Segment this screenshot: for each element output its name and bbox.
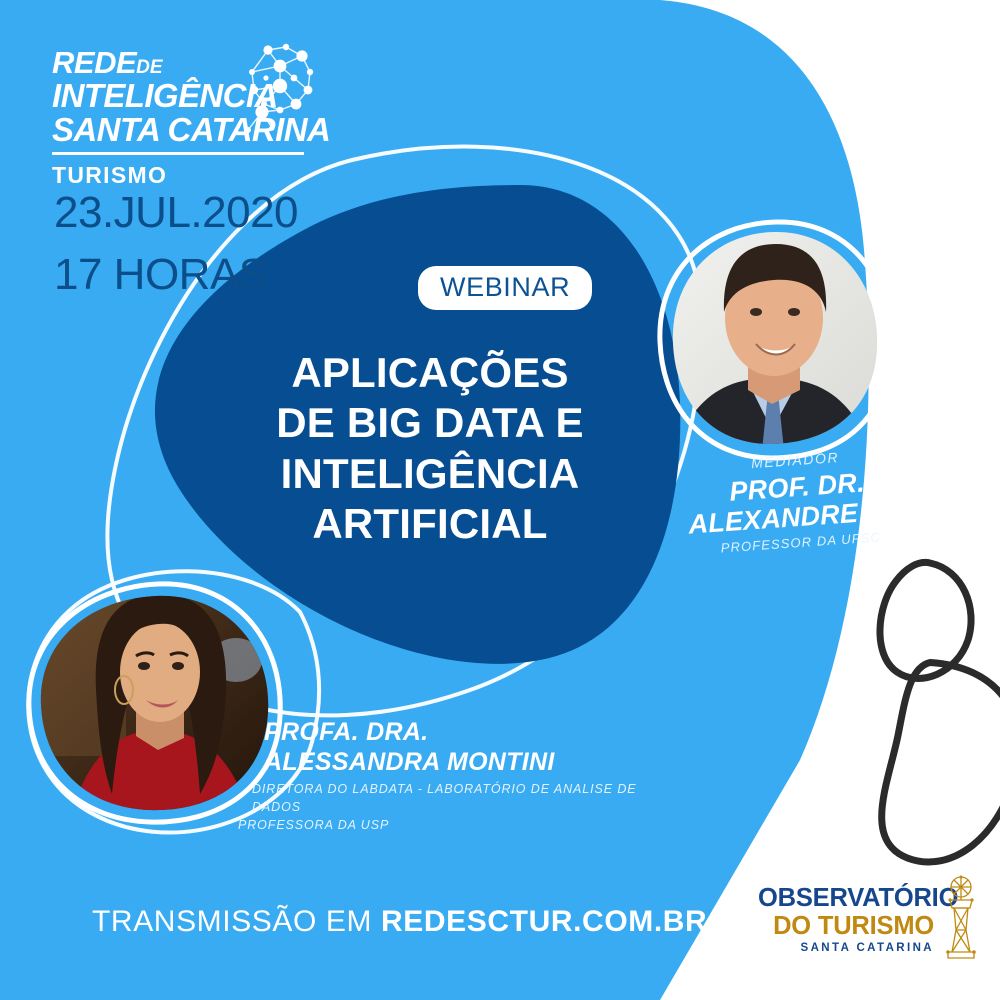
event-time: 17 HORAS xyxy=(54,252,298,298)
event-title-line-2: DE BIG DATA E xyxy=(200,398,660,448)
transmission-prefix: TRANSMISSÃO EM xyxy=(92,905,381,938)
observatorio-line-2: DO TURISMO xyxy=(758,914,934,940)
tower-lattice-icon xyxy=(938,874,984,964)
event-title-line-4: ARTIFICIAL xyxy=(200,499,660,549)
event-title-line-3: INTELIGÊNCIA xyxy=(200,449,660,499)
brand-de: DE xyxy=(136,57,162,78)
speaker-name: PROFA. DRA. ALESSANDRA MONTINI xyxy=(238,718,658,777)
event-title-line-1: APLICAÇÕES xyxy=(200,348,660,398)
network-nodes-icon xyxy=(228,42,320,138)
event-date: 23.JUL.2020 xyxy=(54,190,298,236)
event-title: APLICAÇÕES DE BIG DATA E INTELIGÊNCIA AR… xyxy=(200,348,660,550)
transmission-line: TRANSMISSÃO EM REDESCTUR.COM.BR xyxy=(92,905,707,939)
brand-line-1: REDEDE xyxy=(52,48,382,78)
observatorio-line-1: OBSERVATÓRIO xyxy=(758,886,934,912)
brand-rede: REDE xyxy=(52,45,136,80)
webinar-badge-label: WEBINAR xyxy=(440,272,570,302)
event-datetime: 23.JUL.2020 17 HORAS xyxy=(54,190,298,298)
speaker-affiliation: DIRETORA DO LABDATA - LABORATÓRIO DE ANA… xyxy=(238,780,658,834)
speaker-affiliation-line-2: PROFESSORA DA USP xyxy=(238,816,658,834)
brand-line-3: SANTA CATARINA xyxy=(52,113,382,146)
webinar-badge: WEBINAR xyxy=(418,266,592,310)
speaker-name-line-2: ALESSANDRA MONTINI xyxy=(264,748,658,778)
observatorio-line-3: SANTA CATARINA xyxy=(758,942,934,954)
brand-logo: REDEDE INTELIGÊNCIA SANTA CATARINA TURIS… xyxy=(52,48,382,189)
brand-divider xyxy=(52,152,304,155)
webinar-poster: REDEDE INTELIGÊNCIA SANTA CATARINA TURIS… xyxy=(0,0,1000,1000)
speaker-name-line-1: PROFA. DRA. xyxy=(264,718,658,748)
speaker-affiliation-line-1: DIRETORA DO LABDATA - LABORATÓRIO DE ANA… xyxy=(238,780,658,816)
observatorio-logo: OBSERVATÓRIO DO TURISMO SANTA CATARINA xyxy=(758,886,970,968)
transmission-url[interactable]: REDESCTUR.COM.BR xyxy=(381,905,707,938)
speaker-info: PROFA. DRA. ALESSANDRA MONTINI DIRETORA … xyxy=(238,718,658,834)
mediator-info: MEDIADOR PROF. DR. ALEXANDRE BIZ PROFESS… xyxy=(645,442,951,561)
brand-line-4: TURISMO xyxy=(52,162,382,189)
brand-line-2: INTELIGÊNCIA xyxy=(52,79,382,112)
